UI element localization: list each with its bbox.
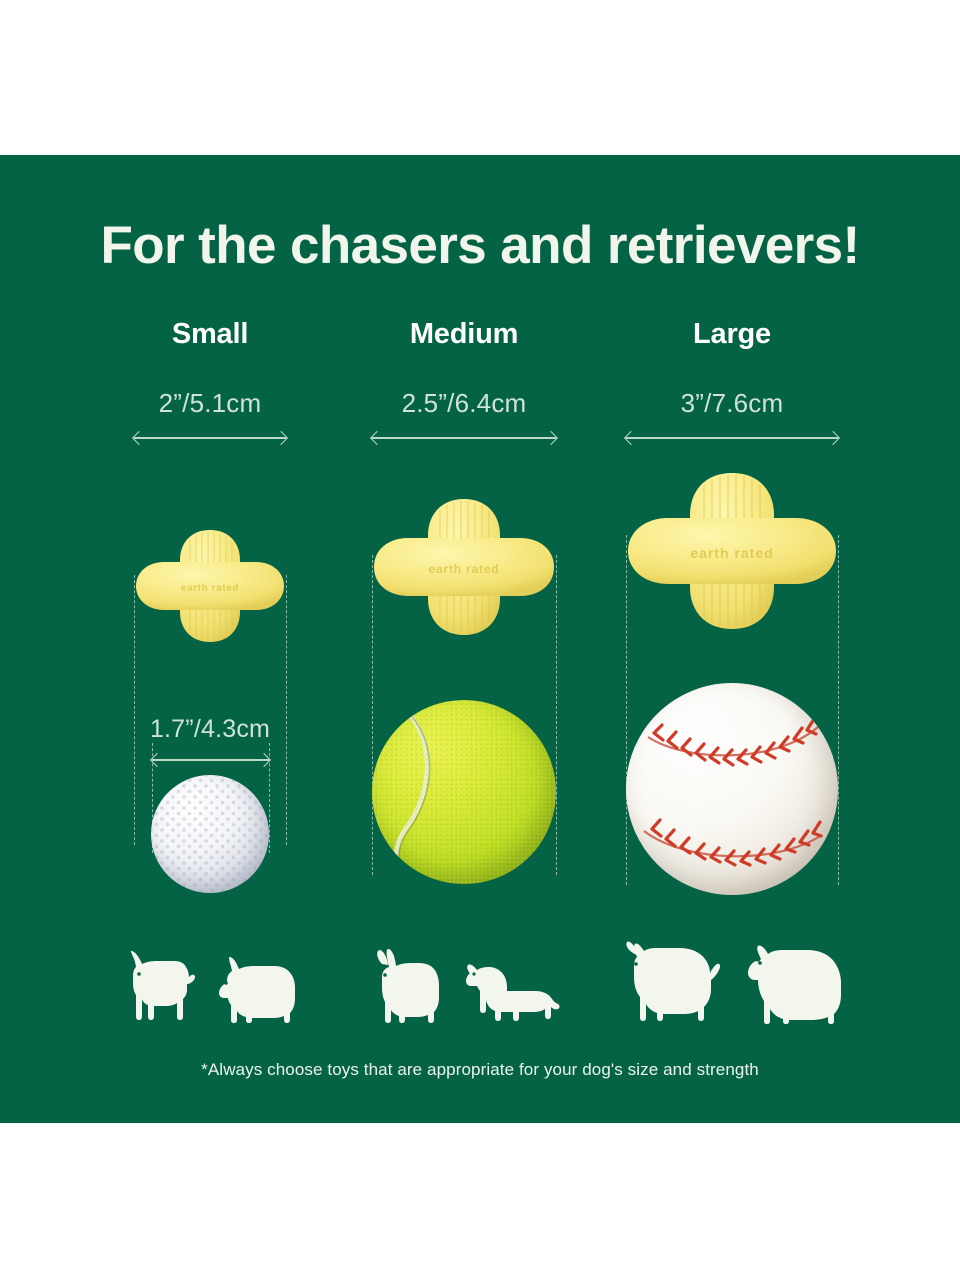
size-label-medium: Medium <box>314 318 614 351</box>
dog-silhouettes-large <box>582 925 882 1025</box>
toy-brand-small: earth rated <box>181 583 239 594</box>
golf-ball <box>151 775 269 893</box>
green-panel: For the chasers and retrievers! Small 2”… <box>0 155 960 1123</box>
reference-dimension-small: 1.7”/4.3cm <box>60 715 360 744</box>
guide-line-right-large <box>838 535 839 885</box>
toy-small: earth rated <box>134 510 286 662</box>
baseball <box>626 683 838 895</box>
french-bulldog-icon <box>367 947 443 1025</box>
toy-brand-large: earth rated <box>690 545 773 561</box>
guide-line-right-small <box>286 575 287 845</box>
chihuahua-icon <box>118 950 198 1025</box>
page-title: For the chasers and retrievers! <box>0 215 960 276</box>
footnote-text: *Always choose toys that are appropriate… <box>0 1060 960 1080</box>
tennis-ball <box>372 700 556 884</box>
reference-guide-right-small <box>269 743 270 853</box>
retriever-icon <box>737 937 849 1025</box>
guide-line-right-medium <box>556 555 557 875</box>
terrier-icon <box>212 953 302 1025</box>
dimension-arrow-small <box>134 431 286 445</box>
tennis-ball-seam <box>372 700 556 884</box>
dimension-arrow-medium <box>372 431 556 445</box>
toy-brand-medium: earth rated <box>429 562 500 576</box>
size-label-large: Large <box>582 318 882 351</box>
infographic-canvas: For the chasers and retrievers! Small 2”… <box>0 0 960 1280</box>
toy-medium: earth rated <box>372 475 556 659</box>
baseball-stitching <box>626 683 838 895</box>
dog-silhouettes-medium <box>314 925 614 1025</box>
reference-arrow-small <box>152 753 269 767</box>
dachshund-icon <box>457 959 561 1025</box>
toy-dimension-medium: 2.5”/6.4cm <box>314 388 614 419</box>
dimension-arrow-large <box>626 431 838 445</box>
toy-large: earth rated <box>626 445 838 657</box>
toy-dimension-large: 3”/7.6cm <box>582 388 882 419</box>
boxer-icon <box>615 937 723 1025</box>
